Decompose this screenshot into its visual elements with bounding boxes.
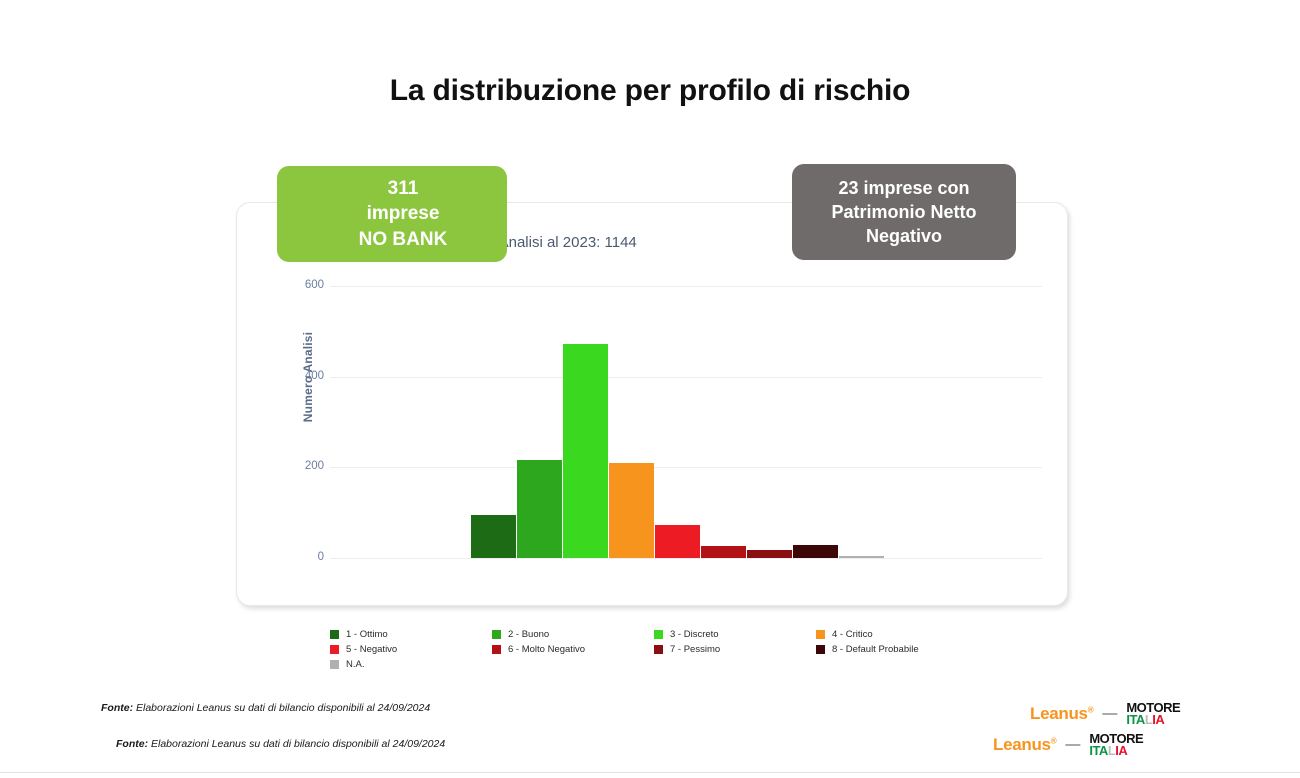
legend-swatch-icon — [330, 660, 339, 669]
chart-bar — [471, 515, 516, 558]
legend-item[interactable]: N.A. — [330, 658, 492, 671]
callout-no-bank-line1: 311 — [299, 176, 507, 201]
source-note-2: Fonte: Elaborazioni Leanus su dati di bi… — [116, 738, 445, 750]
trademark-icon: ® — [1088, 705, 1094, 714]
legend-label: 1 - Ottimo — [346, 629, 388, 640]
legend-label: 3 - Discreto — [670, 629, 719, 640]
legend-swatch-icon — [330, 645, 339, 654]
chart-bar — [793, 545, 838, 558]
legend-swatch-icon — [654, 630, 663, 639]
callout-patrimonio-netto-negativo: 23 imprese con Patrimonio Netto Negativo — [792, 164, 1016, 260]
callout-no-bank: 311 imprese NO BANK — [277, 166, 507, 262]
motore-italia-logo: MOTORE ITALIA — [1126, 702, 1180, 726]
source-note-1-text: Elaborazioni Leanus su dati di bilancio … — [133, 702, 430, 714]
logo-lockup-top: Leanus® — MOTORE ITALIA — [1030, 702, 1180, 726]
legend-swatch-icon — [492, 630, 501, 639]
chart-bar — [747, 550, 792, 558]
chart-legend: 1 - Ottimo2 - Buono3 - Discreto4 - Criti… — [330, 628, 980, 671]
trademark-icon-2: ® — [1051, 736, 1057, 745]
callout-no-bank-line2: imprese — [299, 201, 507, 226]
legend-label: 2 - Buono — [508, 629, 549, 640]
bottom-divider — [0, 772, 1300, 773]
chart-bar — [839, 556, 884, 558]
legend-swatch-icon — [492, 645, 501, 654]
legend-label: 4 - Critico — [832, 629, 873, 640]
legend-swatch-icon — [816, 645, 825, 654]
source-note-1: Fonte: Elaborazioni Leanus su dati di bi… — [101, 702, 430, 714]
leanus-logo: Leanus® — [1030, 704, 1093, 724]
callout-no-bank-line3: NO BANK — [299, 227, 507, 252]
legend-item[interactable]: 6 - Molto Negativo — [492, 643, 654, 656]
motore-italia-logo-2: MOTORE ITALIA — [1089, 733, 1143, 757]
chart-bar — [609, 463, 654, 558]
legend-item[interactable]: 5 - Negativo — [330, 643, 492, 656]
legend-item[interactable]: 8 - Default Probabile — [816, 643, 978, 656]
chart-bar — [701, 546, 746, 558]
chart-plot-area: Numero Analisi 0200400600 — [236, 202, 1066, 604]
callout-pn-line3: Negativo — [792, 224, 1016, 248]
source-note-2-label: Fonte: — [116, 738, 148, 750]
legend-swatch-icon — [330, 630, 339, 639]
legend-item[interactable]: 2 - Buono — [492, 628, 654, 641]
legend-swatch-icon — [654, 645, 663, 654]
callout-pn-line2: Patrimonio Netto — [792, 200, 1016, 224]
legend-item[interactable]: 3 - Discreto — [654, 628, 816, 641]
legend-label: 8 - Default Probabile — [832, 644, 919, 655]
logo-separator-icon-2: — — [1065, 736, 1080, 753]
source-note-2-text: Elaborazioni Leanus su dati di bilancio … — [148, 738, 445, 750]
leanus-logo-2: Leanus® — [993, 735, 1056, 755]
legend-item[interactable]: 4 - Critico — [816, 628, 978, 641]
leanus-logo-text-2: Leanus — [993, 735, 1051, 754]
leanus-logo-text: Leanus — [1030, 704, 1088, 723]
legend-label: 6 - Molto Negativo — [508, 644, 585, 655]
legend-label: N.A. — [346, 659, 364, 670]
gridline — [330, 558, 1042, 559]
legend-item[interactable]: 1 - Ottimo — [330, 628, 492, 641]
italia-logo-text: ITALIA — [1126, 714, 1180, 726]
chart-bar — [563, 344, 608, 558]
source-note-1-label: Fonte: — [101, 702, 133, 714]
chart-bar — [655, 525, 700, 558]
legend-item[interactable]: 7 - Pessimo — [654, 643, 816, 656]
chart-bar — [517, 460, 562, 558]
logo-separator-icon: — — [1102, 705, 1117, 722]
legend-swatch-icon — [816, 630, 825, 639]
page-title: La distribuzione per profilo di rischio — [0, 74, 1300, 108]
legend-label: 7 - Pessimo — [670, 644, 720, 655]
logo-lockup-bottom: Leanus® — MOTORE ITALIA — [993, 733, 1143, 757]
legend-label: 5 - Negativo — [346, 644, 397, 655]
callout-pn-line1: 23 imprese con — [792, 176, 1016, 200]
italia-logo-text-2: ITALIA — [1089, 745, 1143, 757]
